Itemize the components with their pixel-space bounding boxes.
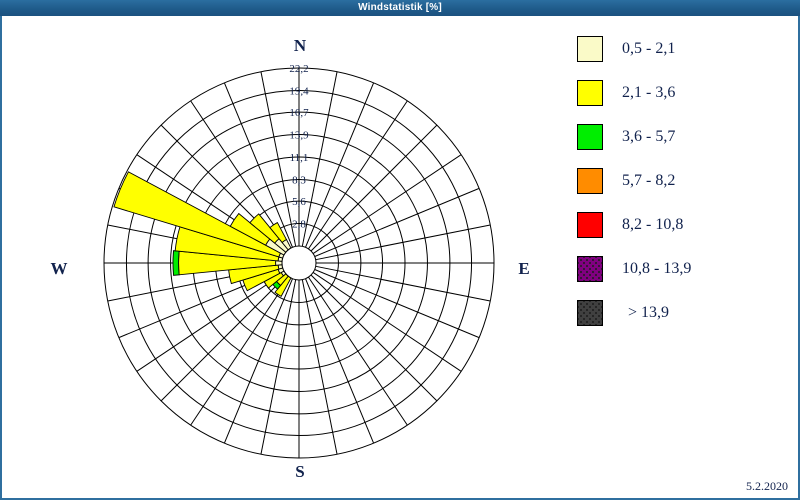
legend-item[interactable]: 5,7 - 8,2	[577, 168, 787, 194]
calm-circle	[282, 246, 316, 280]
window-title: Windstatistik [%]	[0, 0, 800, 16]
legend-label: 10,8 - 13,9	[622, 260, 691, 278]
client-area: 2,85,68,311,113,916,719,422,2 N E S W 0,…	[0, 16, 800, 500]
legend-item[interactable]: > 13,9	[577, 300, 787, 326]
legend-label: 5,7 - 8,2	[622, 172, 675, 190]
legend-label: 3,6 - 5,7	[622, 128, 675, 146]
compass-label-west: W	[42, 259, 76, 279]
legend-item[interactable]: 2,1 - 3,6	[577, 80, 787, 106]
legend-label: 8,2 - 10,8	[622, 216, 683, 234]
legend-item[interactable]: 8,2 - 10,8	[577, 212, 787, 238]
radial-tick-label: 8,3	[292, 174, 306, 186]
legend-item[interactable]: 10,8 - 13,9	[577, 256, 787, 282]
radial-tick-label: 11,1	[290, 152, 309, 164]
radial-tick-label: 19,4	[289, 85, 309, 97]
radial-tick-label: 2,8	[292, 219, 306, 231]
legend-swatch	[577, 168, 603, 194]
petal-segment	[173, 251, 179, 276]
windstatistik-window: Windstatistik [%] 2,85,68,311,113,916,71…	[0, 0, 800, 500]
legend-swatch	[577, 256, 603, 282]
windrose-plot: 2,85,68,311,113,916,719,422,2 N E S W	[2, 16, 572, 498]
legend-label: > 13,9	[628, 304, 669, 322]
radial-tick-label: 22,2	[289, 63, 308, 75]
radial-tick-label: 13,9	[289, 130, 309, 142]
footer-date: 5.2.2020	[746, 479, 788, 494]
legend-swatch	[577, 300, 603, 326]
compass-label-north: N	[283, 36, 317, 56]
speed-legend: 0,5 - 2,12,1 - 3,63,6 - 5,75,7 - 8,28,2 …	[577, 36, 787, 344]
legend-swatch	[577, 36, 603, 62]
windrose-chart: 2,85,68,311,113,916,719,422,2	[2, 16, 572, 498]
legend-swatch	[577, 212, 603, 238]
legend-item[interactable]: 0,5 - 2,1	[577, 36, 787, 62]
radial-tick-label: 5,6	[292, 196, 306, 208]
compass-label-south: S	[283, 462, 317, 482]
legend-swatch	[577, 80, 603, 106]
legend-label: 0,5 - 2,1	[622, 40, 675, 58]
calm-center	[282, 246, 316, 280]
legend-item[interactable]: 3,6 - 5,7	[577, 124, 787, 150]
radial-tick-label: 16,7	[289, 107, 309, 119]
compass-label-east: E	[507, 259, 541, 279]
legend-label: 2,1 - 3,6	[622, 84, 675, 102]
legend-swatch	[577, 124, 603, 150]
